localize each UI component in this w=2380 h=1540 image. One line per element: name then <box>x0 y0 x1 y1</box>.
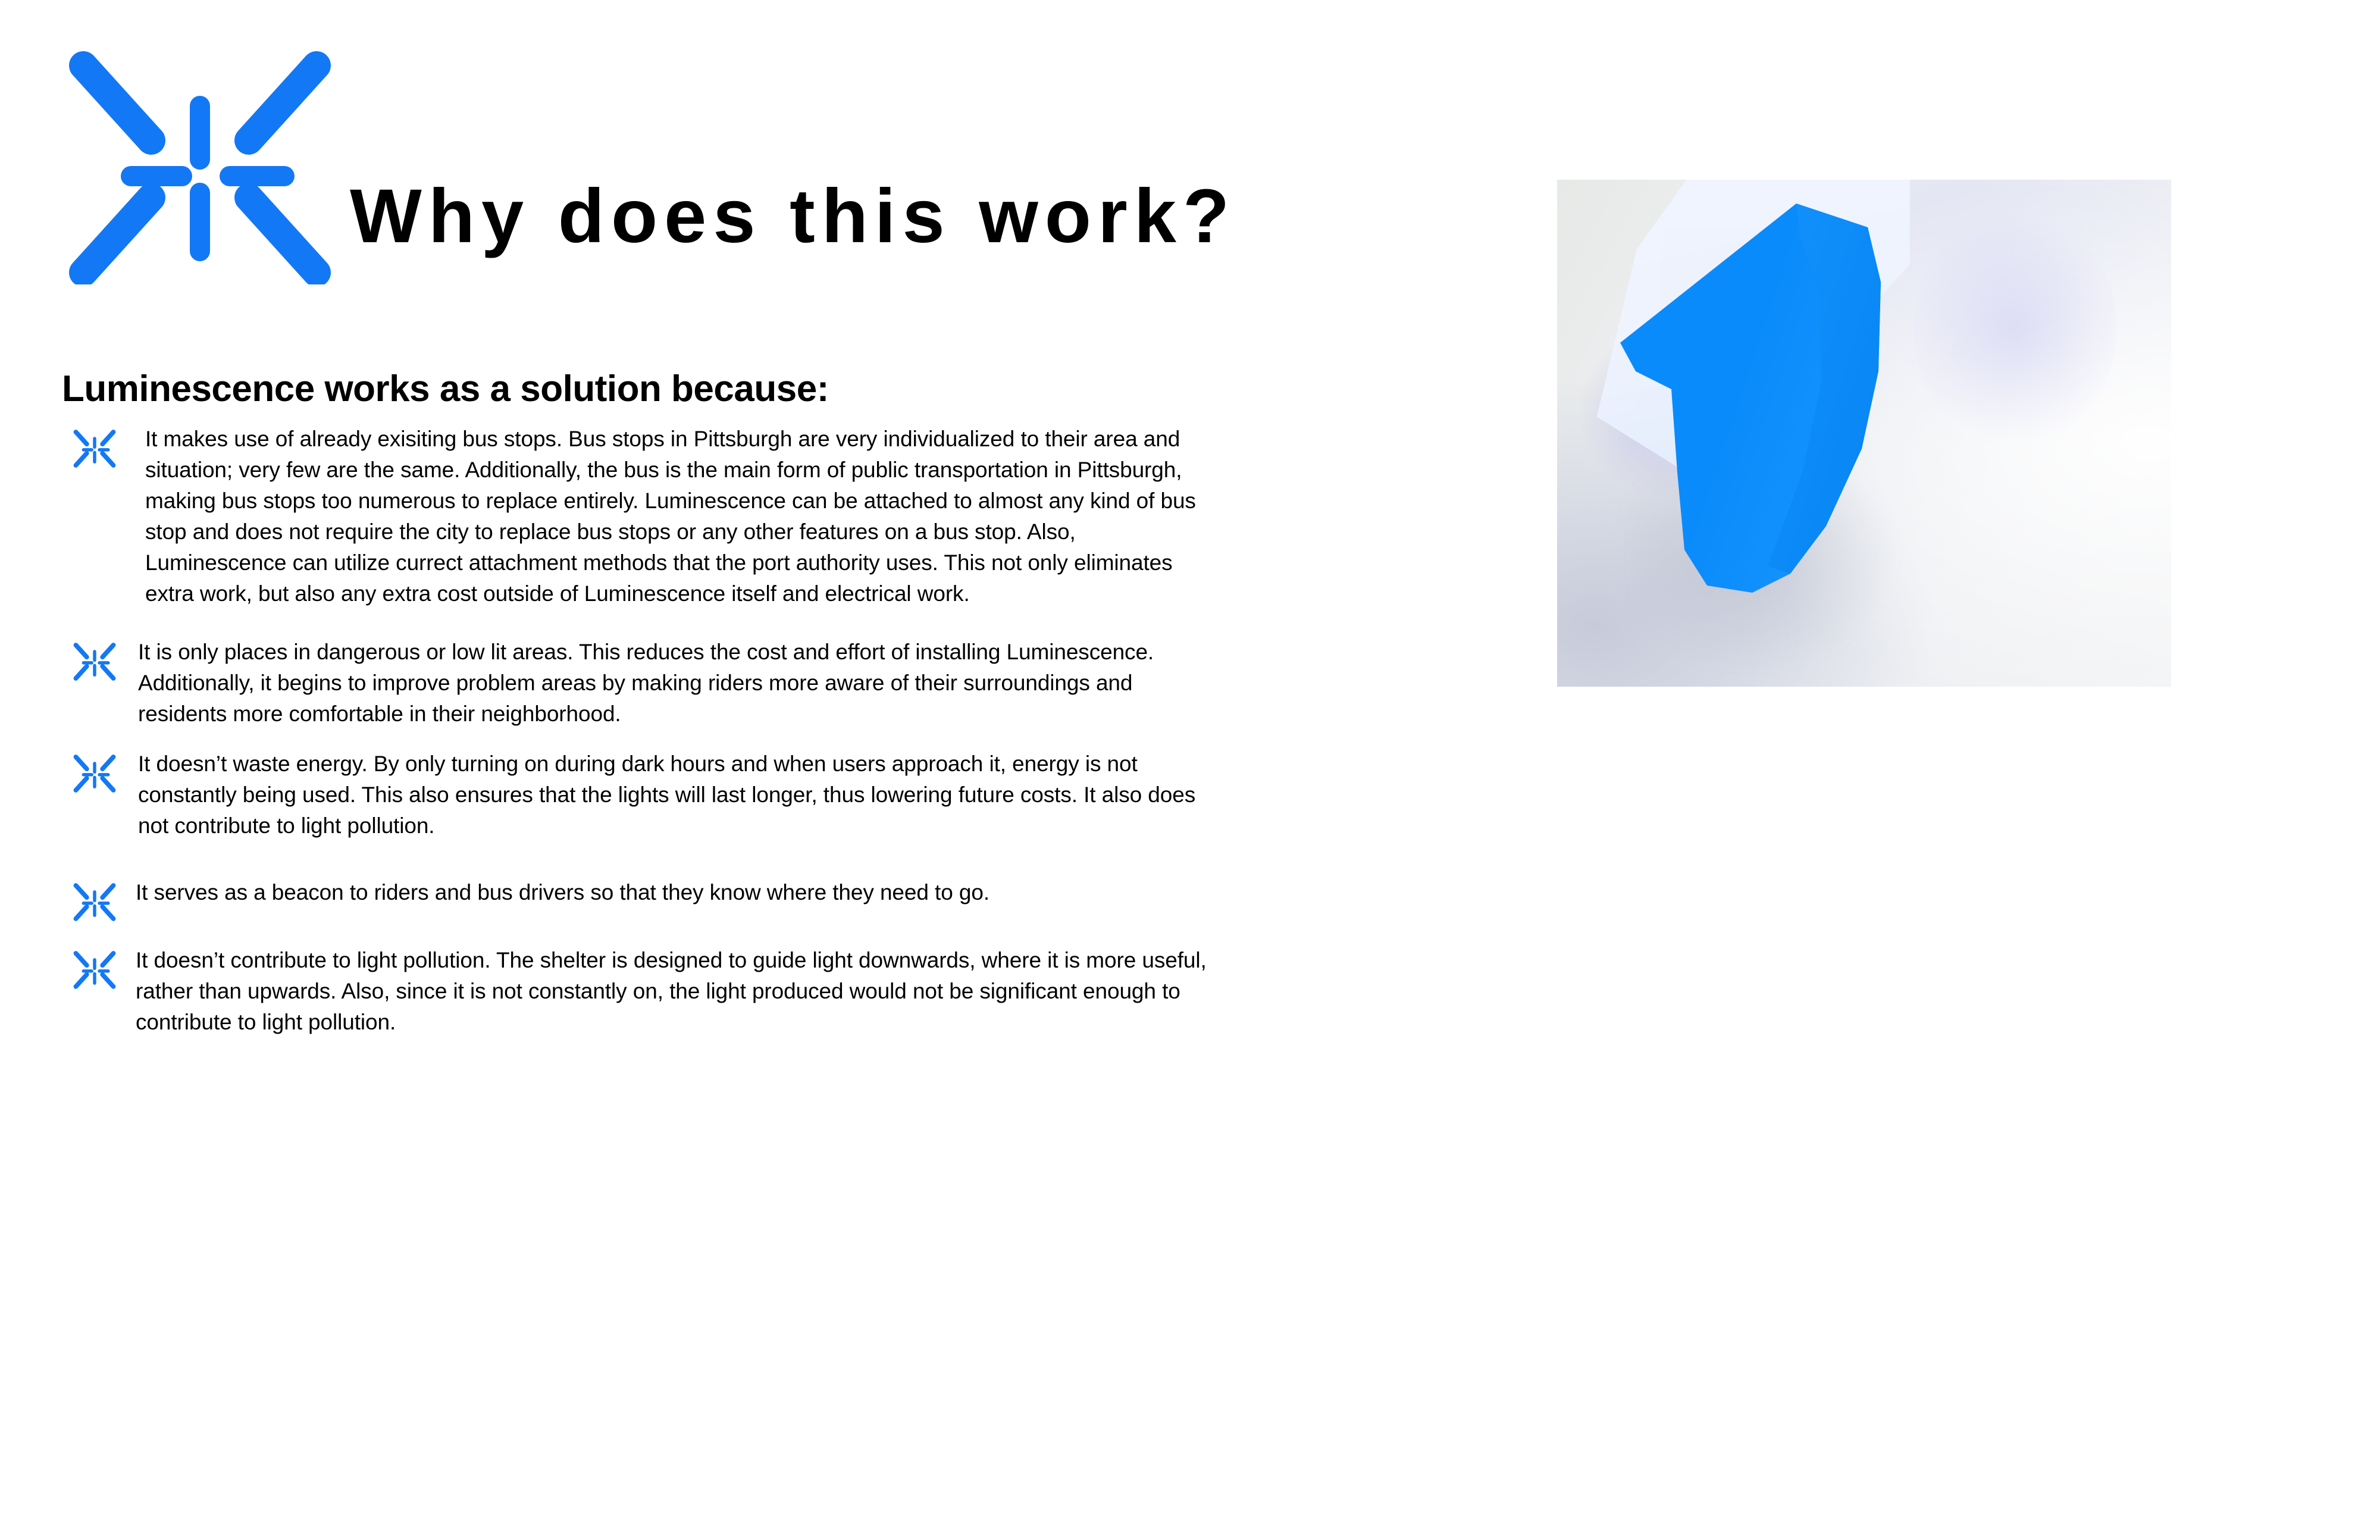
list-item-text: It serves as a beacon to riders and bus … <box>136 877 1183 908</box>
luminescence-fixture-render <box>1557 180 2171 687</box>
luminescence-starburst-logo-icon <box>63 46 337 284</box>
starburst-bullet-icon <box>73 879 117 924</box>
list-item-text: It doesn’t contribute to light pollution… <box>136 945 1225 1038</box>
starburst-bullet-icon <box>73 947 117 991</box>
starburst-bullet-icon <box>73 426 117 470</box>
list-item: It doesn’t contribute to light pollution… <box>62 945 1252 1038</box>
page-header: Why does this work? <box>0 0 1428 309</box>
list-item: It is only places in dangerous or low li… <box>62 637 1252 730</box>
list-item: It doesn’t waste energy. By only turning… <box>62 749 1252 841</box>
starburst-bullet-icon <box>73 639 117 683</box>
list-item-text: It makes use of already exisiting bus st… <box>145 424 1216 609</box>
list-item: It serves as a beacon to riders and bus … <box>62 877 1252 908</box>
fixture-body <box>1612 193 1981 669</box>
list-item: It makes use of already exisiting bus st… <box>62 424 1252 609</box>
list-item-text: It doesn’t waste energy. By only turning… <box>138 749 1227 841</box>
reasons-list: It makes use of already exisiting bus st… <box>62 424 1252 1038</box>
starburst-bullet-icon <box>73 751 117 795</box>
section-subheading: Luminescence works as a solution because… <box>62 370 829 408</box>
page-title: Why does this work? <box>350 179 1236 255</box>
list-item-text: It is only places in dangerous or low li… <box>138 637 1185 730</box>
